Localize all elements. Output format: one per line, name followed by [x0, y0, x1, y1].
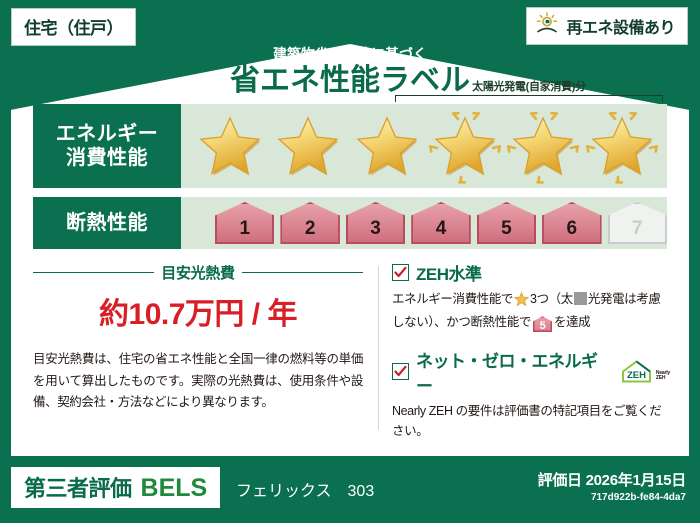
star-rating — [191, 104, 661, 188]
zeh-logo: ZEH Nearly ZEH — [620, 359, 670, 384]
label-footer: 第三者評価 BELS フェリックス 303 評価日 2026年1月15日 717… — [0, 457, 700, 523]
star-icon — [514, 295, 529, 309]
insulation-performance-row: 断熱性能 1234567 — [33, 197, 667, 249]
energy-label-line2: 消費性能 — [66, 146, 148, 170]
zeh-standard-checkbox — [392, 264, 409, 281]
label-content: エネルギー 消費性能 太陽光発電(自家消費)分 断熱性能 1234567 — [11, 44, 689, 456]
star-icon-solar — [428, 112, 502, 180]
zeh-body-text-1: エネルギー消費性能で — [392, 292, 513, 306]
building-name: フェリックス 303 — [236, 477, 374, 501]
grade-number: 5 — [501, 218, 512, 240]
heading-rule-left — [33, 272, 154, 273]
energy-label-line1: エネルギー — [56, 122, 159, 146]
inline-grade-badge: 5 — [533, 316, 552, 332]
renewable-badge-label: 再エネ設備あり — [566, 14, 675, 38]
utility-cost-value: 約10.7万円 / 年 — [33, 289, 363, 333]
zeh-logo-caption: Nearly ZEH — [656, 371, 670, 385]
net-zero-energy-item: ネット・ゼロ・エネルギー ZEH Nearly ZEH Nearly ZE — [392, 347, 670, 442]
heading-rule-right — [242, 272, 363, 273]
star-icon-solar — [506, 112, 580, 180]
insulation-grade-4: 4 — [411, 202, 470, 244]
grade-number: 7 — [632, 218, 643, 240]
inline-grade-number: 5 — [533, 316, 552, 336]
category-chip-label: 住宅（住戸） — [24, 19, 123, 38]
insulation-grade-3: 3 — [346, 202, 405, 244]
grade-number: 2 — [305, 218, 316, 240]
evaluation-date: 評価日 2026年1月15日 — [538, 469, 686, 490]
grade-number: 3 — [370, 218, 381, 240]
insulation-grade-7: 7 — [608, 202, 667, 244]
grade-number: 4 — [436, 218, 447, 240]
grade-number: 6 — [567, 218, 578, 240]
zeh-logo-caption-line2: ZEH — [656, 375, 665, 381]
energy-star-panel: 太陽光発電(自家消費)分 — [181, 104, 667, 188]
insulation-grade-panel: 1234567 — [181, 197, 667, 249]
title-subtitle: 建築物省エネ法に基づく — [0, 44, 700, 64]
star-icon — [193, 112, 267, 180]
net-zero-energy-checkbox — [392, 363, 409, 380]
category-chip: 住宅（住戸） — [11, 8, 136, 46]
utility-cost-note: 目安光熱費は、住宅の省エネ性能と全国一律の燃料等の単価を用いて算出したものです。… — [33, 349, 363, 414]
energy-performance-label: 住宅（住戸） 再エネ設備あり 建築物省エネ法に基づく 省エネ性能ラベル — [0, 0, 700, 523]
net-zero-energy-title: ネット・ゼロ・エネルギー — [416, 347, 608, 397]
title-heading: 省エネ性能ラベル — [0, 65, 700, 97]
bels-badge: 第三者評価 BELS — [11, 467, 220, 508]
energy-performance-label: エネルギー 消費性能 — [33, 104, 181, 188]
utility-cost-block: 目安光熱費 約10.7万円 / 年 目安光熱費は、住宅の省エネ性能と全国一律の燃… — [33, 262, 363, 414]
insulation-grade-6: 6 — [542, 202, 601, 244]
insulation-grade-5: 5 — [477, 202, 536, 244]
zeh-standard-body: エネルギー消費性能で3つ（太光発電は考慮しない）、かつ断熱性能で5を達成 — [392, 289, 670, 333]
star-icon-solar — [585, 112, 659, 180]
star-icon — [350, 112, 424, 180]
bels-badge-jp: 第三者評価 — [24, 471, 132, 503]
insulation-grade-2: 2 — [280, 202, 339, 244]
insulation-label-text: 断熱性能 — [66, 211, 148, 235]
zeh-body-text-2: 3つ（太 — [530, 292, 573, 306]
renewable-energy-badge: 再エネ設備あり — [526, 7, 688, 45]
insulation-grade-1: 1 — [215, 202, 274, 244]
zeh-standard-header: ZEH水準 — [392, 260, 670, 285]
svg-text:ZEH: ZEH — [627, 370, 646, 381]
energy-performance-row: エネルギー 消費性能 太陽光発電(自家消費)分 — [33, 104, 667, 188]
zeh-standard-item: ZEH水準 エネルギー消費性能で3つ（太光発電は考慮しない）、かつ断熱性能で5を… — [392, 260, 670, 333]
insulation-grade-scale: 1234567 — [181, 197, 667, 249]
utility-cost-heading-label: 目安光熱費 — [161, 262, 235, 283]
net-zero-energy-body: Nearly ZEH の要件は評価書の特記項目をご覧ください。 — [392, 401, 670, 442]
label-title: 建築物省エネ法に基づく 省エネ性能ラベル — [0, 44, 700, 97]
star-icon — [271, 112, 345, 180]
net-zero-energy-header: ネット・ゼロ・エネルギー ZEH Nearly ZEH — [392, 347, 670, 397]
section-divider — [378, 266, 379, 430]
grade-number: 1 — [239, 218, 250, 240]
zeh-body-text-4: を達成 — [554, 315, 590, 329]
zeh-section: ZEH水準 エネルギー消費性能で3つ（太光発電は考慮しない）、かつ断熱性能で5を… — [392, 260, 670, 441]
zeh-standard-title: ZEH水準 — [416, 260, 482, 285]
bels-badge-en: BELS — [141, 474, 208, 503]
redacted-character-icon — [574, 292, 587, 305]
insulation-performance-label: 断熱性能 — [33, 197, 181, 249]
sun-icon — [535, 12, 559, 39]
evaluation-id: 717d922b-fe84-4da7 — [538, 492, 686, 503]
utility-cost-heading: 目安光熱費 — [33, 262, 363, 283]
evaluation-info: 評価日 2026年1月15日 717d922b-fe84-4da7 — [538, 469, 686, 503]
